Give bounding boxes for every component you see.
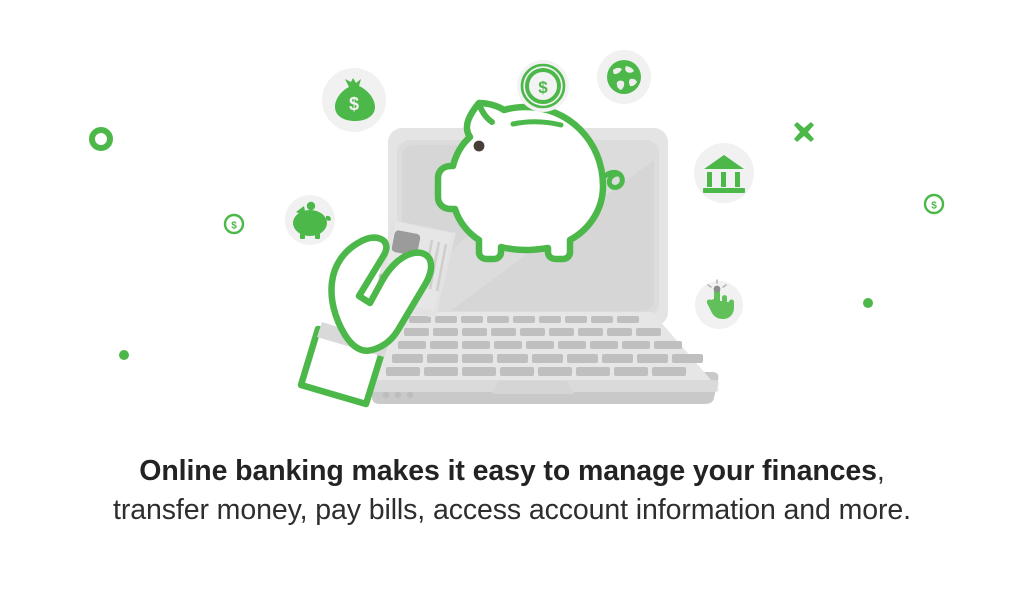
caption-lead: Online banking makes it easy to manage y… [139,455,877,487]
cross-icon [794,122,814,142]
tap-hand-dot [714,286,721,293]
piggy-eye [474,141,485,152]
money-bag-dollar-glyph: $ [349,94,359,114]
banking-illustration: $ $ [0,0,1024,440]
badge-bank [694,143,754,203]
dot-icon-right [863,298,873,308]
laptop-front-dots [383,392,413,398]
ring-icon [92,130,110,148]
badge-globe [597,50,651,104]
laptop-trackpad [492,381,574,394]
svg-text:$: $ [231,221,237,232]
illustration-svg: $ $ [0,0,1024,440]
caption: Online banking makes it easy to manage y… [0,452,1024,531]
dot-icon-left [119,350,129,360]
coin-dollar-glyph: $ [538,78,548,97]
badge-piggy-small [285,195,335,245]
dollar-coin-outline-icon-left: $ [225,215,243,233]
badge-money-bag: $ [322,68,386,132]
dollar-coin-outline-icon-right: $ [925,195,943,213]
svg-text:$: $ [931,201,937,212]
badge-tap-hand [695,280,743,329]
illustration-page: $ $ [0,0,1024,598]
badge-dollar-coin: $ [517,60,569,112]
globe-icon [607,60,641,94]
